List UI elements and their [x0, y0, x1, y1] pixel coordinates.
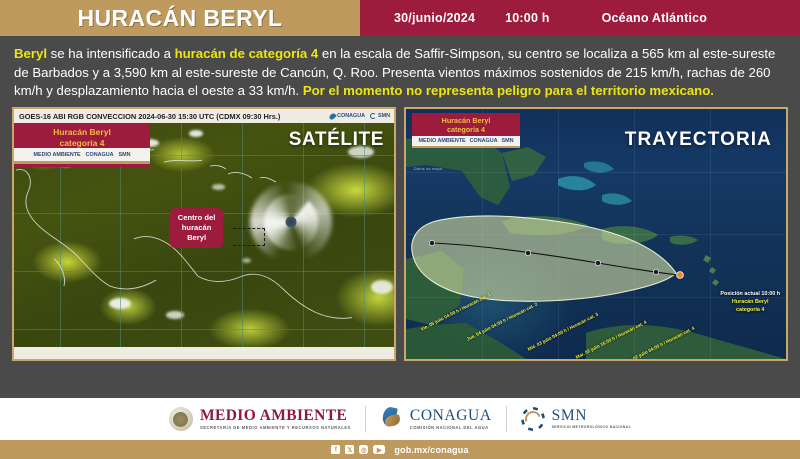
conagua-title: CONAGUA — [410, 408, 492, 424]
satellite-panel[interactable]: Centro del huracán Beryl GOES-16 ABI RGB… — [12, 107, 396, 361]
trajectory-panel[interactable]: Vie. 05 julio 04:00 h / Huracán cat. 1 J… — [404, 107, 788, 361]
t-badge-medio-logo: MEDIO AMBIENTE — [419, 138, 466, 144]
trajectory-badge-strip — [412, 146, 520, 148]
header-meta: 30/junio/2024 10:00 h Océano Atlántico — [360, 0, 800, 36]
badge-medio-logo: MEDIO AMBIENTE — [34, 152, 81, 158]
x-twitter-icon[interactable]: 𝕏 — [345, 445, 354, 454]
medio-ambiente-logo: MEDIO AMBIENTE SECRETARÍA DE MEDIO AMBIE… — [155, 407, 365, 431]
conagua-mini-logo: CONAGUA — [330, 113, 365, 120]
map-attribution: Datos de mapa — [414, 167, 442, 171]
footer-url[interactable]: gob.mx/conagua — [394, 445, 468, 455]
trajectory-badge-line1: Huracán Beryl — [412, 116, 520, 125]
satellite-caption-strip: GOES-16 ABI RGB CONVECCION 2024-06-30 15… — [14, 109, 394, 123]
satellite-caption: GOES-16 ABI RGB CONVECCION 2024-06-30 15… — [19, 112, 280, 121]
current-line-3: categoría 4 — [720, 307, 780, 315]
bulletin-seg2: se ha intensificado a — [47, 46, 175, 61]
seal-eagle-icon — [173, 412, 188, 427]
conagua-text: CONAGUA COMISIÓN NACIONAL DEL AGUA — [410, 408, 492, 431]
trajectory-inner: Vie. 05 julio 04:00 h / Huracán cat. 1 J… — [406, 109, 786, 359]
smn-mini-label: SMN — [378, 113, 390, 119]
hurricane-eye-spiral — [250, 182, 332, 262]
page-title: HURACÁN BERYL — [78, 5, 283, 32]
current-line-2: Huracán Beryl — [720, 299, 780, 307]
trajectory-badge: Huracán Beryl categoría 4 MEDIO AMBIENTE… — [412, 113, 520, 148]
header-basin: Océano Atlántico — [602, 11, 708, 25]
trajectory-badge-line2: categoría 4 — [412, 125, 520, 134]
header-time: 10:00 h — [505, 11, 549, 25]
satellite-badge-line2: categoría 4 — [14, 138, 150, 149]
medio-ambiente-title: MEDIO AMBIENTE — [200, 408, 351, 424]
t-badge-conagua-logo: CONAGUA — [470, 138, 498, 144]
mexico-seal-icon — [169, 407, 193, 431]
conagua-subtitle: COMISIÓN NACIONAL DEL AGUA — [410, 425, 492, 430]
header-bar: HURACÁN BERYL 30/junio/2024 10:00 h Océa… — [0, 0, 800, 36]
badge-gold-strip — [14, 161, 150, 164]
smn-mark-icon — [521, 407, 545, 431]
satellite-badge-line1: Huracán Beryl — [14, 127, 150, 138]
smn-title: SMN — [552, 408, 631, 424]
t-badge-smn-logo: SMN — [502, 138, 514, 144]
callout-line-3: Beryl — [178, 233, 216, 243]
bulletin-warning: Por el momento no representa peligro par… — [303, 83, 714, 98]
footer-logos: MEDIO AMBIENTE SECRETARÍA DE MEDIO AMBIE… — [0, 398, 800, 440]
smn-subtitle: SERVICIO METEOROLÓGICO NACIONAL — [552, 425, 631, 430]
callout-line-2: huracán — [178, 223, 216, 233]
smn-text: SMN SERVICIO METEOROLÓGICO NACIONAL — [552, 408, 631, 430]
smn-logo: SMN SERVICIO METEOROLÓGICO NACIONAL — [507, 407, 645, 431]
smn-mini-logo: SMN — [370, 113, 390, 120]
infographic-page: HURACÁN BERYL 30/junio/2024 10:00 h Océa… — [0, 0, 800, 459]
satellite-badge: Huracán Beryl categoría 4 MEDIO AMBIENTE… — [14, 123, 150, 167]
conagua-mark-icon — [380, 406, 403, 432]
satellite-panel-title: SATÉLITE — [289, 129, 384, 151]
medio-ambiente-text: MEDIO AMBIENTE SECRETARÍA DE MEDIO AMBIE… — [200, 408, 351, 431]
footer: MEDIO AMBIENTE SECRETARÍA DE MEDIO AMBIE… — [0, 398, 800, 459]
header-date: 30/junio/2024 — [394, 11, 475, 25]
instagram-icon[interactable]: ◎ — [359, 445, 368, 454]
callout-connector — [233, 228, 265, 246]
spiral-icon — [370, 113, 376, 119]
medio-ambiente-subtitle: SECRETARÍA DE MEDIO AMBIENTE Y RECURSOS … — [200, 425, 351, 430]
bulletin-text: Beryl se ha intensificado a huracán de c… — [0, 36, 800, 107]
badge-conagua-logo: CONAGUA — [86, 152, 114, 158]
current-line-1: Posición actual 10:00 h — [720, 291, 780, 299]
conagua-logo: CONAGUA COMISIÓN NACIONAL DEL AGUA — [366, 406, 506, 432]
badge-smn-logo: SMN — [119, 152, 131, 158]
water-drop-icon — [328, 112, 336, 120]
bulletin-category: huracán de categoría 4 — [175, 46, 319, 61]
hurricane-eye — [286, 216, 297, 227]
youtube-icon[interactable]: ▶ — [373, 445, 385, 454]
trajectory-panel-title: TRAYECTORIA — [625, 129, 772, 151]
current-position-label: Posición actual 10:00 h Huracán Beryl ca… — [720, 291, 780, 314]
header-title-box: HURACÁN BERYL — [0, 0, 360, 36]
bulletin-name: Beryl — [14, 46, 47, 61]
satellite-inner: Centro del huracán Beryl GOES-16 ABI RGB… — [14, 109, 394, 359]
panels-row: Centro del huracán Beryl GOES-16 ABI RGB… — [0, 107, 800, 361]
uncertainty-cone — [408, 197, 738, 317]
facebook-icon[interactable]: f — [331, 445, 340, 454]
satellite-strip-logos: CONAGUA SMN — [330, 113, 394, 120]
hurricane-center-callout: Centro del huracán Beryl — [170, 208, 224, 248]
footer-social-bar: f 𝕏 ◎ ▶ gob.mx/conagua — [0, 440, 800, 459]
trajectory-badge-logos: MEDIO AMBIENTE CONAGUA SMN — [412, 136, 520, 146]
callout-line-1: Centro del — [178, 213, 216, 223]
satellite-badge-logos: MEDIO AMBIENTE CONAGUA SMN — [14, 148, 150, 161]
conagua-mini-label: CONAGUA — [337, 113, 365, 119]
trajectory-badge-top: Huracán Beryl categoría 4 — [412, 113, 520, 136]
satellite-bottom-bar — [14, 347, 394, 359]
